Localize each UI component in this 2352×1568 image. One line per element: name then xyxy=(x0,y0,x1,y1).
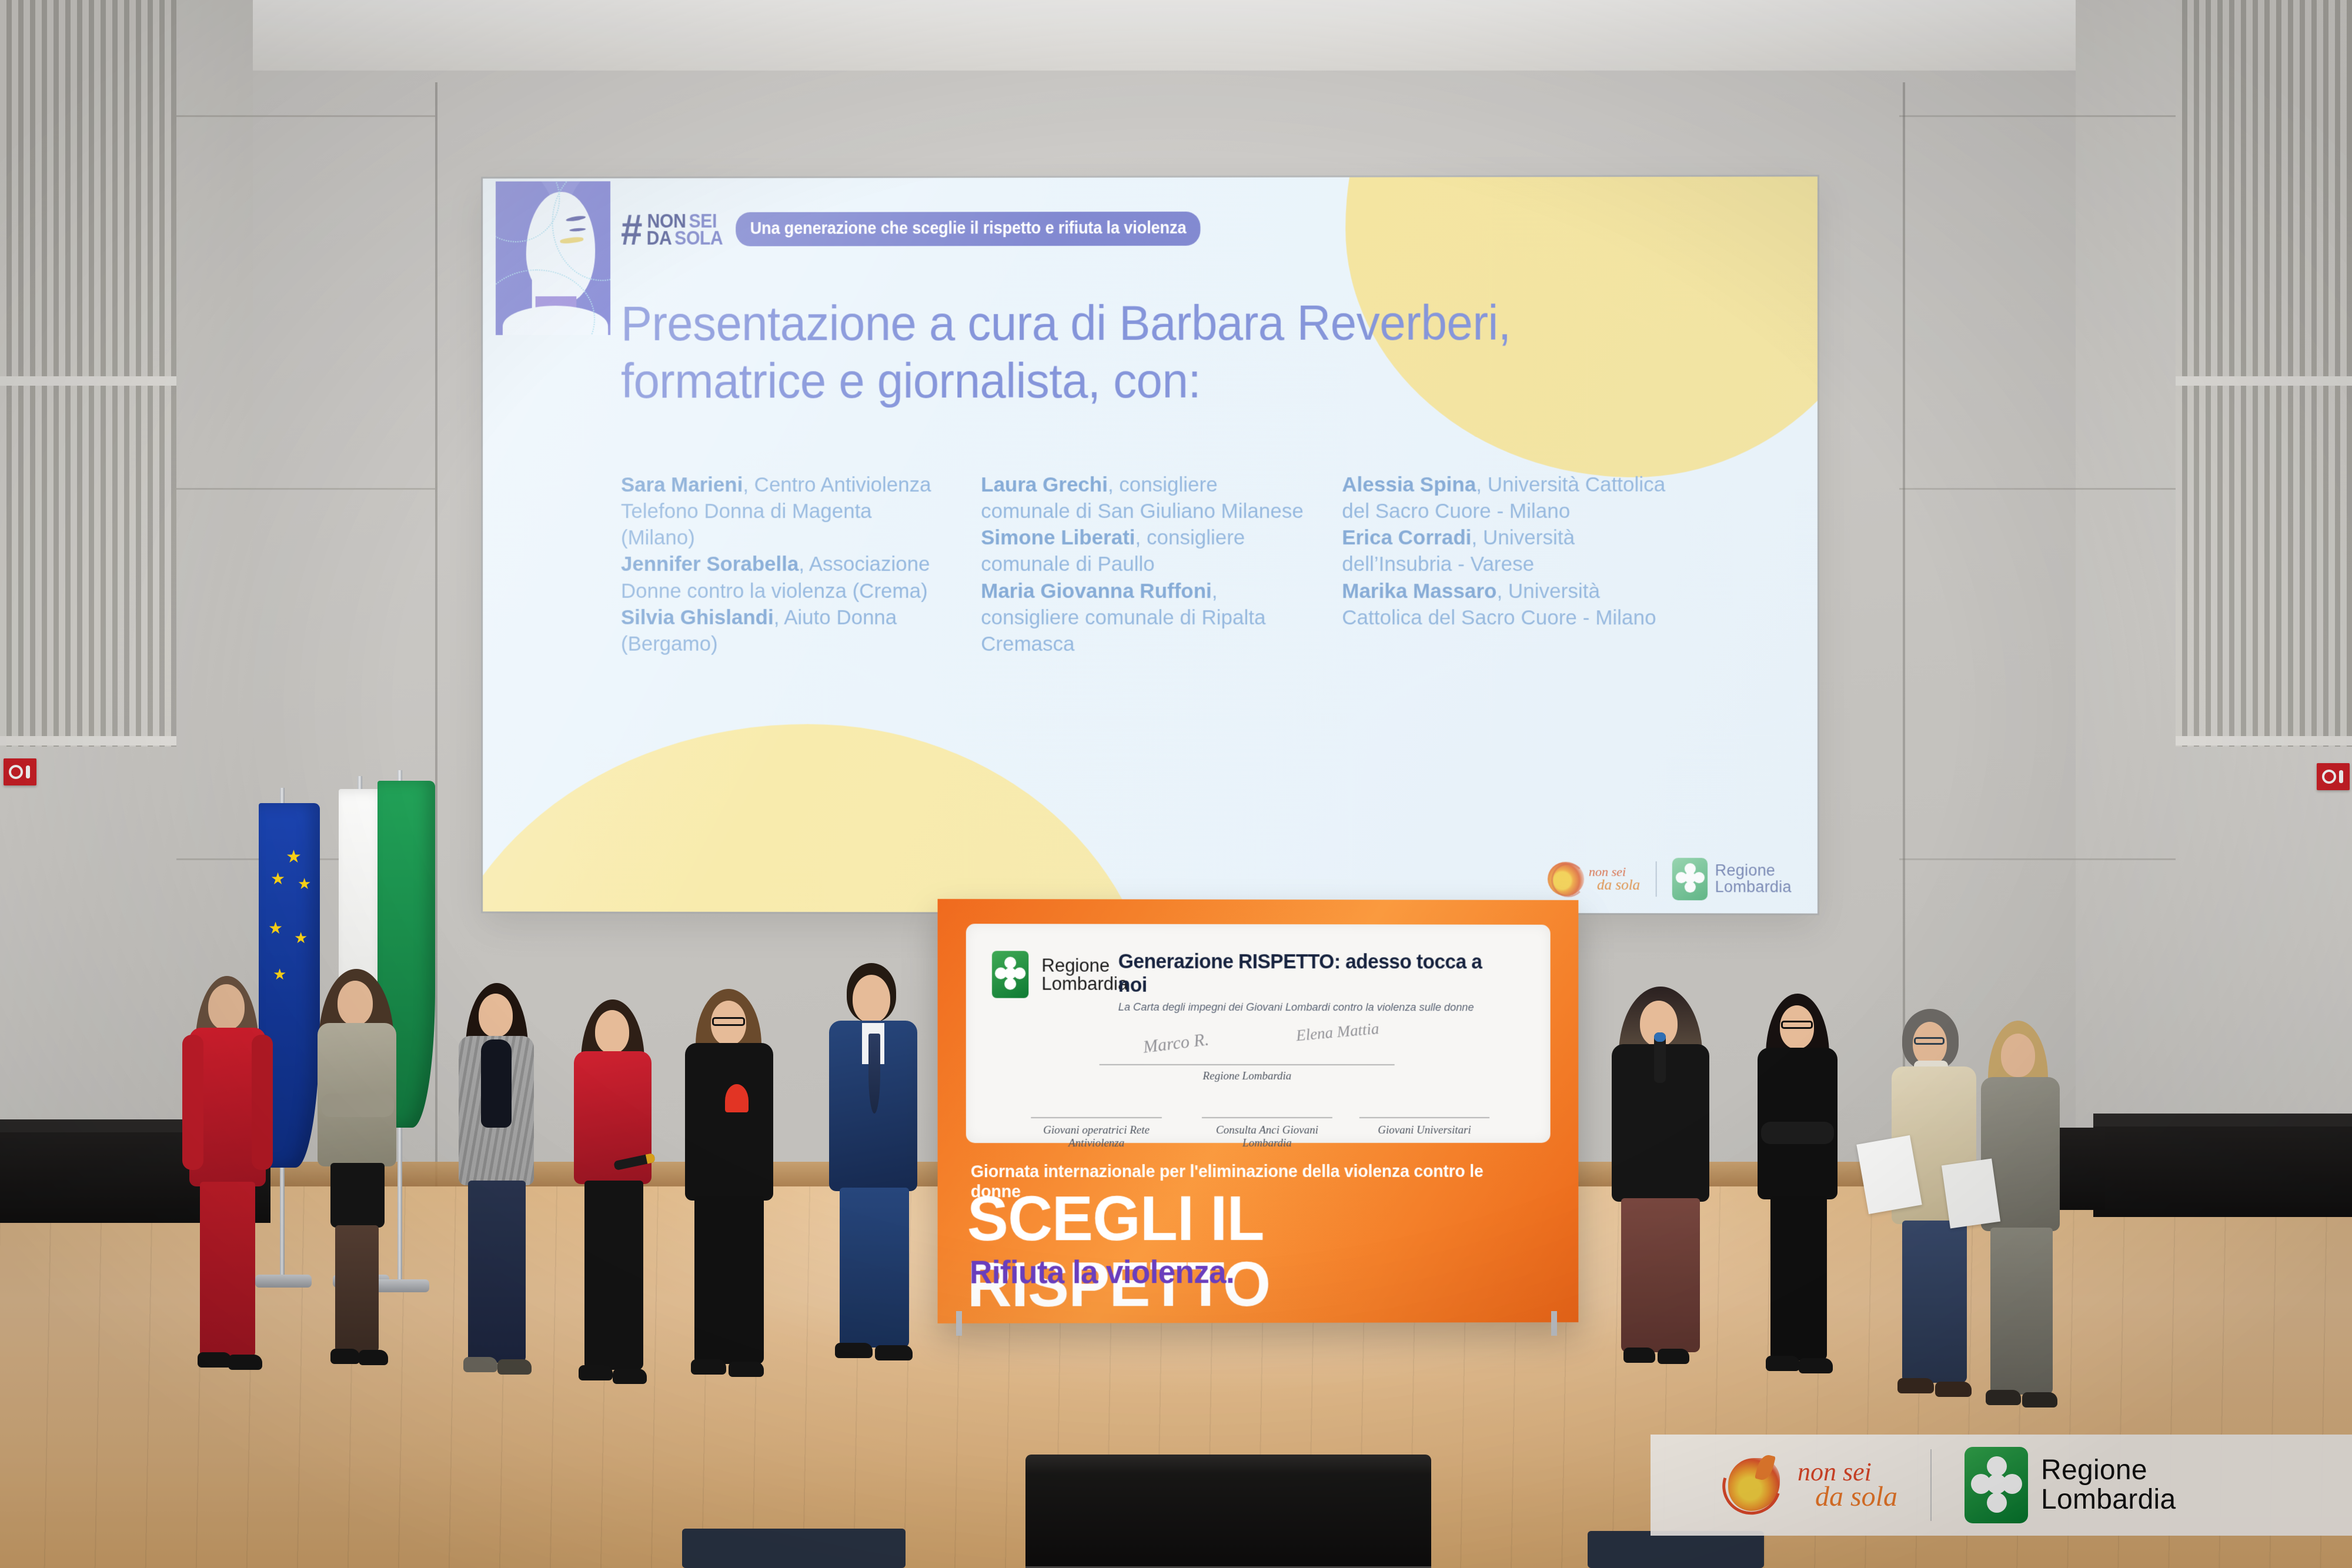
person-head xyxy=(2001,1034,2035,1077)
regione-lombardia-wordmark: Regione Lombardia xyxy=(1715,863,1792,895)
slide-campaign-logo: non sei da sola xyxy=(1548,862,1640,896)
person-shoe xyxy=(1986,1390,2021,1405)
footer-campaign-wordmark: non sei da sola xyxy=(1798,1460,1897,1510)
person-shoe xyxy=(1658,1349,1689,1364)
person-shoe xyxy=(1897,1378,1934,1393)
wall-seam-2 xyxy=(176,488,435,490)
held-clipboard xyxy=(1942,1159,2000,1229)
necktie xyxy=(868,1034,880,1114)
fire-hose-sign-right-icon xyxy=(2317,763,2350,790)
speaker-entry: Sara Marieni, Centro Antiviolenza Telefo… xyxy=(621,472,949,551)
person-head xyxy=(595,1010,629,1054)
person-shoe xyxy=(497,1359,532,1375)
person-shoe xyxy=(1623,1348,1655,1363)
person-shoe xyxy=(691,1359,726,1375)
person-arm xyxy=(252,1035,273,1170)
speaker-name: Silvia Ghislandi xyxy=(621,606,774,628)
woman-illustration xyxy=(496,181,610,335)
person-shoe xyxy=(330,1349,360,1364)
footer-regione-line-2: Lombardia xyxy=(2041,1485,2176,1514)
word-da: DA xyxy=(646,229,671,246)
person-legs xyxy=(584,1181,643,1370)
person-shoe xyxy=(198,1352,232,1368)
splat-swirl xyxy=(1712,1446,1791,1524)
footer-campaign-line-2: da sola xyxy=(1815,1484,1897,1510)
wall-seam-4 xyxy=(1899,115,2176,117)
charter-regione-logo: Regione Lombardia xyxy=(992,951,1128,998)
person-shoe xyxy=(1935,1382,1972,1397)
signature-line-1 xyxy=(1031,1117,1162,1118)
speaker-name: Marika Massaro xyxy=(1342,580,1496,603)
right-wall-corner xyxy=(1903,82,1905,1188)
lombardia-rose-icon xyxy=(1965,1447,2028,1523)
left-wall-slats xyxy=(0,0,176,747)
footer-campaign-line-1: non sei xyxy=(1798,1460,1897,1484)
speaker-name: Simone Liberati xyxy=(981,526,1135,549)
slide-footer-logos: non sei da sola Regione Lo xyxy=(1548,858,1792,901)
hash-icon: # xyxy=(621,212,640,248)
person-legs xyxy=(1990,1228,2053,1395)
person-shoe xyxy=(2022,1392,2057,1407)
charter-regione-line-2: Lombardia xyxy=(1041,975,1128,993)
slide-brand-row: # NON SEI DA SOLA Una generazione che sc… xyxy=(621,212,1231,246)
right-wall-slats xyxy=(2176,0,2352,747)
signature-label-2: Consulta Anci Giovani Lombardia xyxy=(1190,1124,1344,1150)
monitor-back-foreground xyxy=(1025,1455,1431,1568)
wall-seam-6 xyxy=(1899,858,2176,860)
slide-title-line-2: formatrice e giornalista, con: xyxy=(621,352,1626,410)
person-shoe xyxy=(1799,1358,1833,1373)
speaker-column-2: Laura Grechi, consigliere comunale di Sa… xyxy=(981,472,1310,657)
left-wall-corner xyxy=(435,82,437,1188)
slide-logo-divider xyxy=(1655,861,1656,897)
person-legs xyxy=(468,1181,526,1363)
person-shoe xyxy=(835,1343,873,1358)
speaker-entry: Laura Grechi, consigliere comunale di Sa… xyxy=(981,472,1310,524)
flag-base-eu xyxy=(255,1275,312,1288)
person-top-black xyxy=(481,1039,512,1128)
charter-subheading: La Carta degli impegni dei Giovani Lomba… xyxy=(1118,1001,1502,1015)
person-arm-crossed xyxy=(321,1094,394,1117)
footer-regione-lombardia-logo: Regione Lombardia xyxy=(1965,1447,2176,1523)
tagline-part-2: e rifiuta la xyxy=(1041,219,1124,238)
regione-line-1: Regione xyxy=(1715,863,1792,880)
tagline-part-1: Una generazione che sceglie il xyxy=(750,219,983,238)
footer-regione-line-1: Regione xyxy=(2041,1456,2176,1485)
signature-line-2 xyxy=(1202,1117,1332,1118)
tagline-bold-rispetto: rispetto xyxy=(983,219,1041,238)
slide-decor-blob-bottom-left xyxy=(483,724,1157,914)
charter-heading: Generazione RISPETTO: adesso tocca a noi xyxy=(1118,950,1502,998)
nonseidasola-wordmark: NON SEI DA SOLA xyxy=(646,212,726,246)
eyeglasses-icon xyxy=(712,1017,745,1026)
speaker-entry: Jennifer Sorabella, Associazione Donne c… xyxy=(621,551,949,604)
person-legs xyxy=(1621,1198,1700,1352)
person-legs xyxy=(200,1182,255,1358)
speaker-name: Jennifer Sorabella xyxy=(621,553,799,576)
left-slat-band xyxy=(0,376,176,386)
ceiling xyxy=(0,0,2352,71)
footer-logo-bar: non sei da sola Regione Lombardia xyxy=(1651,1435,2352,1536)
regione-line-2: Lombardia xyxy=(1715,879,1792,895)
charter-titles: Generazione RISPETTO: adesso tocca a noi… xyxy=(1118,950,1518,1015)
person-head xyxy=(479,994,513,1037)
speaker-name: Maria Giovanna Ruffoni xyxy=(981,580,1212,603)
person-head xyxy=(338,981,373,1025)
campaign-splat-icon xyxy=(1548,862,1584,896)
slide-title: Presentazione a cura di Barbara Reverber… xyxy=(621,293,1626,410)
person-arm xyxy=(182,1035,203,1170)
person-shoe xyxy=(359,1350,388,1365)
projected-slide: # NON SEI DA SOLA Una generazione che sc… xyxy=(483,176,1818,913)
eyeglasses-icon xyxy=(1914,1037,1945,1045)
campaign-splat-icon xyxy=(1720,1451,1790,1519)
speaker-column-3: Alessia Spina, Università Cattolica del … xyxy=(1342,472,1672,658)
lombardia-rose-icon xyxy=(992,951,1028,998)
person-torso xyxy=(685,1043,773,1201)
main-signature-line xyxy=(1100,1064,1395,1065)
signature-label-1: Giovani operatrici Rete Antiviolenza xyxy=(1019,1124,1174,1150)
speaker-entry: Silvia Ghislandi, Aiuto Donna (Bergamo) xyxy=(621,604,949,657)
person-shoe xyxy=(463,1357,497,1372)
handheld-microphone xyxy=(1654,1032,1666,1083)
speaker-entry: Simone Liberati, consigliere comunale di… xyxy=(981,524,1310,577)
lombardia-petals xyxy=(1672,858,1707,900)
person-legs xyxy=(694,1196,764,1364)
foreground-equipment-right xyxy=(1588,1531,1764,1568)
speaker-column-1: Sara Marieni, Centro Antiviolenza Telefo… xyxy=(621,472,949,657)
footer-logo-divider xyxy=(1930,1449,1932,1521)
lombardia-rose-icon xyxy=(1672,858,1707,900)
conference-room-photo: ★ ★ ★ ★ ★ ★ xyxy=(0,0,2352,1568)
slide-tagline-pill: Una generazione che sceglie il rispetto … xyxy=(736,212,1201,246)
person-legs xyxy=(1770,1196,1827,1360)
banner-support-legs xyxy=(938,1311,1579,1336)
speaker-entry: Marika Massaro, Università Cattolica del… xyxy=(1342,578,1672,631)
person-shoe xyxy=(875,1345,913,1360)
person-arm-crossed xyxy=(1761,1122,1834,1144)
slide-regione-lombardia-logo: Regione Lombardia xyxy=(1672,858,1791,900)
speaker-name: Sara Marieni xyxy=(621,473,743,496)
fire-hose-sign-left-icon xyxy=(4,758,36,785)
person-shoe xyxy=(729,1362,764,1377)
tagline-bold-violenza: violenza xyxy=(1124,219,1186,238)
footer-campaign-logo: non sei da sola xyxy=(1720,1451,1897,1519)
speaker-entry: Erica Corradi, Università dell’Insubria … xyxy=(1342,524,1672,577)
charter-regione-line-1: Regione xyxy=(1041,957,1128,975)
footer-regione-wordmark: Regione Lombardia xyxy=(2041,1456,2176,1514)
speaker-columns: Sara Marieni, Centro Antiviolenza Telefo… xyxy=(621,472,1703,658)
campaign-line-2: da sola xyxy=(1597,878,1640,892)
person-legs xyxy=(330,1163,385,1228)
main-signature-label: Regione Lombardia xyxy=(1100,1070,1395,1083)
person-shoe xyxy=(579,1365,613,1380)
signature-mark-2: Elena Mattia xyxy=(1295,1019,1380,1045)
right-slat-band xyxy=(2176,376,2352,386)
signature-line-3 xyxy=(1359,1117,1489,1118)
speaker-name: Laura Grechi xyxy=(981,473,1108,496)
charter-panel: Regione Lombardia Generazione RISPETTO: … xyxy=(966,924,1551,1143)
right-slat-band-2 xyxy=(2176,736,2352,745)
eyeglasses-icon xyxy=(1781,1021,1813,1029)
person-shoe xyxy=(228,1355,262,1370)
foreground-equipment-left xyxy=(682,1529,906,1568)
word-sola: SOLA xyxy=(675,229,723,246)
campaign-wordmark: non sei da sola xyxy=(1589,866,1640,892)
speaker-entry: Maria Giovanna Ruffoni, consigliere comu… xyxy=(981,578,1310,658)
campaign-line-1: non sei xyxy=(1589,866,1640,878)
stage-riser-right xyxy=(2093,1123,2352,1217)
flag-base-it-green xyxy=(373,1279,429,1292)
speaker-name: Alessia Spina xyxy=(1342,473,1476,496)
nonseidasola-logo: # NON SEI DA SOLA xyxy=(621,212,725,246)
person-legs xyxy=(1902,1221,1967,1383)
left-slat-band-2 xyxy=(0,736,176,745)
slide-title-line-1: Presentazione a cura di Barbara Reverber… xyxy=(621,293,1626,352)
person-legs-stockings xyxy=(335,1225,379,1353)
scegli-il-rispetto-banner: Regione Lombardia Generazione RISPETTO: … xyxy=(938,899,1579,1323)
person-shoe xyxy=(613,1369,647,1384)
speaker-entry: Alessia Spina, Università Cattolica del … xyxy=(1342,472,1672,525)
wall-seam-5 xyxy=(1899,488,2176,490)
person-head xyxy=(208,984,245,1030)
charter-regione-wordmark: Regione Lombardia xyxy=(1041,957,1128,993)
wall-seam-1 xyxy=(176,115,435,117)
signature-label-3: Giovani Universitari xyxy=(1348,1124,1501,1137)
person-shoe xyxy=(1766,1356,1800,1371)
speaker-name: Erica Corradi xyxy=(1342,526,1471,549)
person-head xyxy=(853,975,890,1023)
banner-subline: Rifiuta la violenza. xyxy=(970,1252,1534,1290)
stage-riser-right-top xyxy=(2093,1114,2352,1126)
person-legs xyxy=(840,1188,909,1348)
signature-mark-1: Marco R. xyxy=(1142,1029,1210,1057)
